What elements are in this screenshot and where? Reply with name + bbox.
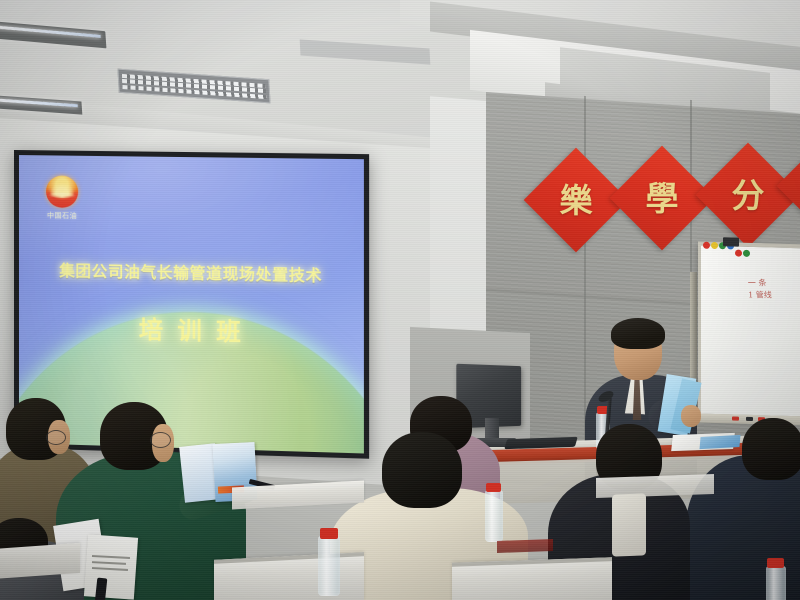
wall-sign-char: 分 bbox=[732, 179, 765, 212]
whiteboard-note-line: 一 条 bbox=[748, 278, 800, 290]
whiteboard-note: 一 条 1 管线 bbox=[748, 278, 800, 302]
chair-seat bbox=[497, 539, 553, 553]
presenter-hand bbox=[681, 405, 701, 427]
petrochina-sun-logo: 中国石油 bbox=[45, 175, 79, 222]
eyeglasses-icon bbox=[46, 430, 66, 445]
projection-screen-surface: 中国石油 集团公司油气长输管道现场处置技术 培训班 bbox=[19, 155, 364, 453]
projection-screen: 中国石油 集团公司油气长输管道现场处置技术 培训班 bbox=[14, 150, 369, 459]
logo-caption: 中国石油 bbox=[45, 210, 79, 221]
chair-back bbox=[612, 493, 646, 556]
sun-icon bbox=[46, 175, 78, 208]
desk-blue-folder bbox=[699, 435, 740, 449]
presenter-hair bbox=[611, 318, 665, 349]
water-bottle bbox=[318, 536, 340, 596]
bottle-cap-icon bbox=[320, 528, 338, 539]
bottle-cap-icon bbox=[767, 558, 784, 568]
bottle-cap-icon bbox=[486, 483, 501, 492]
photo-scene: 樂 學 分 享 中国石油 集团公司油气长输管道现场处置技术 培训班 bbox=[0, 0, 800, 600]
whiteboard: 一 条 1 管线 bbox=[698, 242, 800, 420]
wall-sign-char: 學 bbox=[646, 182, 679, 215]
water-bottle bbox=[766, 566, 786, 600]
attendee-desk bbox=[0, 543, 80, 579]
slide-subtitle: 培训班 bbox=[19, 307, 364, 350]
pen bbox=[95, 578, 108, 600]
whiteboard-clip-icon[interactable] bbox=[723, 237, 739, 246]
whiteboard-note-line: 1 管线 bbox=[748, 290, 800, 302]
eyeglasses-icon bbox=[150, 432, 171, 448]
water-bottle bbox=[485, 490, 503, 542]
wall-sign-char: 樂 bbox=[560, 184, 593, 217]
